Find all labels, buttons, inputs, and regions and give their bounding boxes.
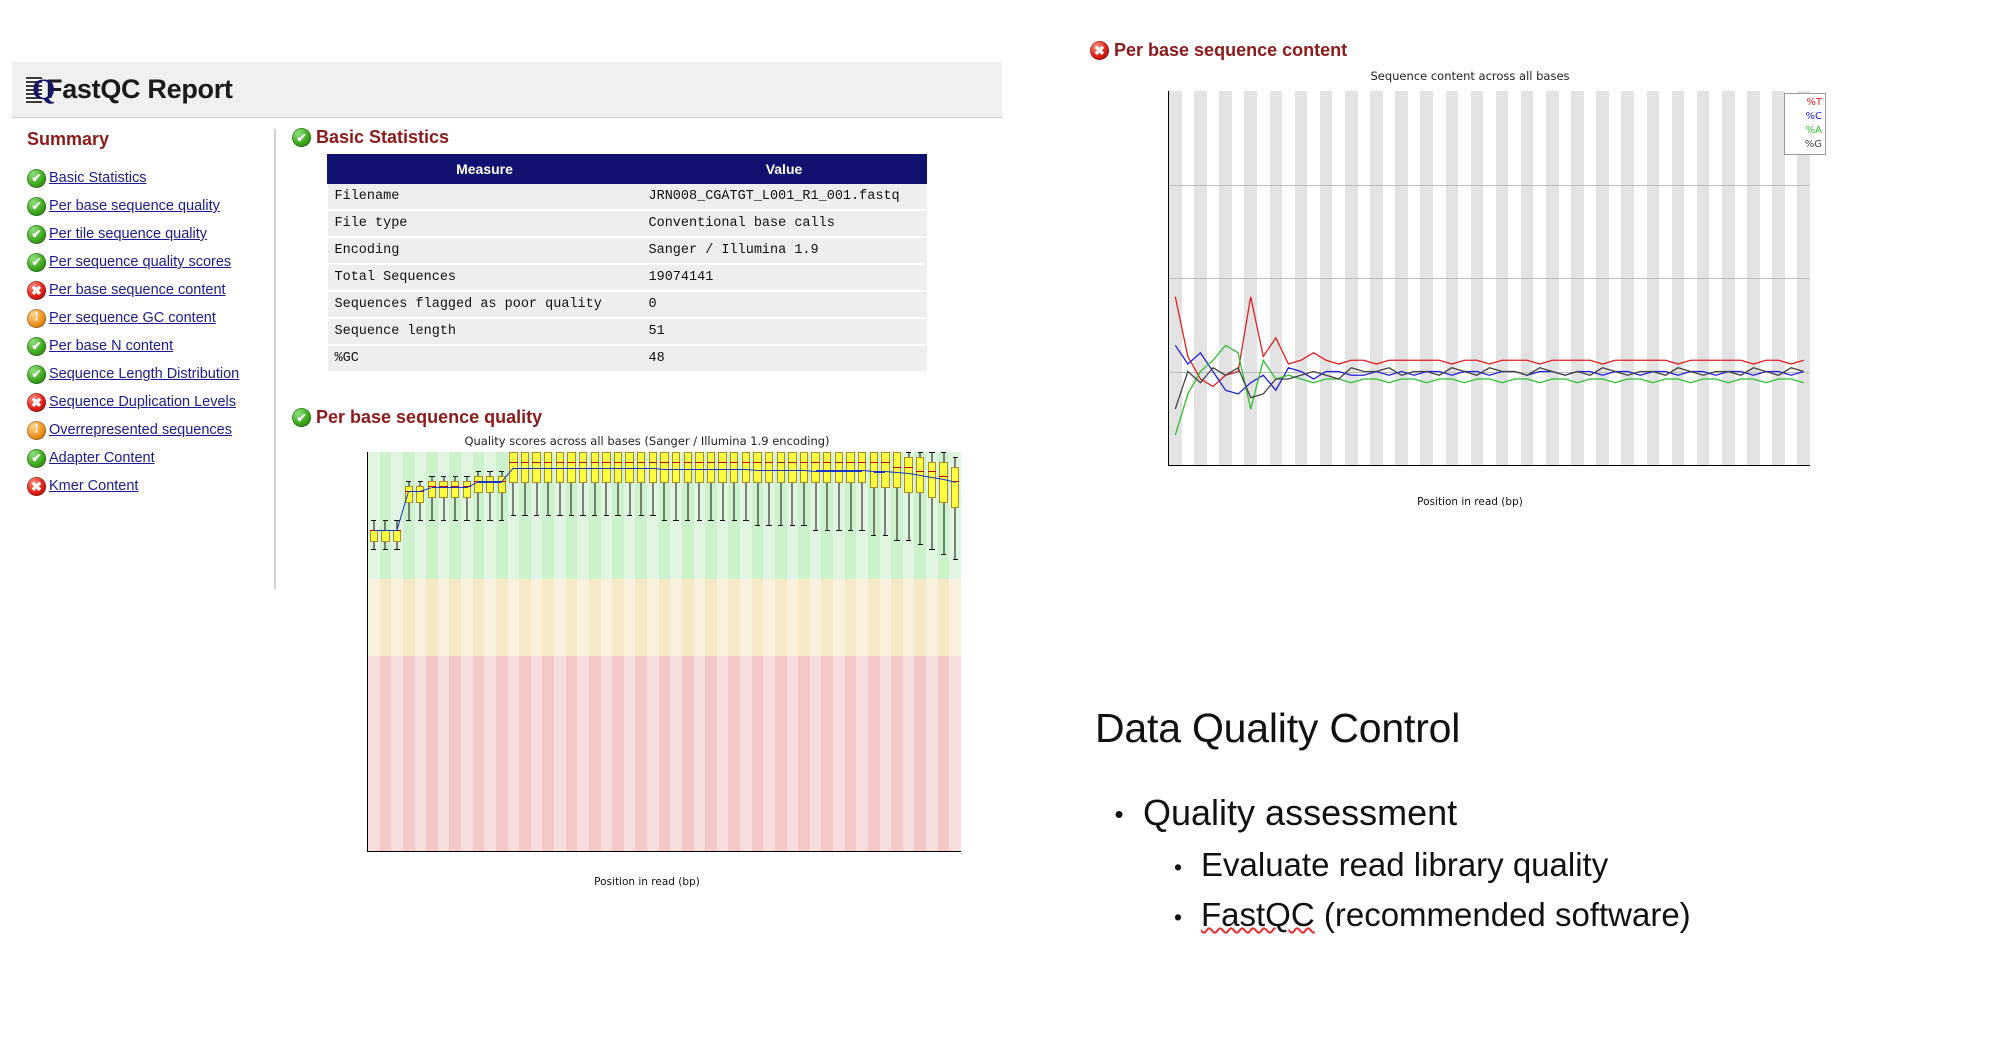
stat-measure: %GC [328,345,642,372]
x-axis-label: Position in read (bp) [1120,496,1820,508]
boxplot-box [800,452,808,851]
stat-value: 51 [642,318,927,345]
summary-item-per-base-sequence-quality[interactable]: ✔Per base sequence quality [27,192,274,220]
boxplot-box [405,452,413,851]
summary-item-label[interactable]: Per base sequence content [49,282,226,298]
per-base-sequence-content-section: ✖ Per base sequence content Sequence con… [1090,40,1850,514]
boxplot-box [707,452,715,851]
pass-icon: ✔ [27,253,46,272]
basic-statistics-table: Measure Value FilenameJRN008_CGATGT_L001… [327,154,927,373]
boxplot-box [486,452,494,851]
mean-quality-line [711,469,723,470]
series-pct-A [1175,345,1803,435]
stat-measure: File type [328,210,642,237]
mean-quality-line [537,468,549,469]
mean-quality-line [571,468,583,469]
stat-value: 48 [642,345,927,372]
boxplot-box [870,452,878,851]
stat-measure: Filename [328,184,642,211]
summary-item-label[interactable]: Sequence Duplication Levels [49,394,236,410]
mean-quality-line [676,469,688,470]
summary-item-per-base-sequence-content[interactable]: ✖Per base sequence content [27,276,274,304]
boxplot-box [498,452,506,851]
boxplot-box [684,452,692,851]
table-row: EncodingSanger / Illumina 1.9 [328,237,927,264]
boxplot-box [718,452,726,851]
summary-item-label[interactable]: Kmer Content [49,478,138,494]
boxplot-box [532,452,540,851]
boxplot-box [881,452,889,851]
mean-quality-line [548,468,560,469]
boxplot-box [451,452,459,851]
summary-item-label[interactable]: Per tile sequence quality [49,226,207,242]
chart-title: Quality scores across all bases (Sanger … [327,434,967,448]
bullet-text: FastQC (recommended software) [1201,896,1691,934]
mean-quality-line [874,471,886,472]
boxplot-box [672,452,680,851]
mean-quality-line [734,469,746,470]
boxplot-box [788,452,796,851]
mean-quality-line [478,481,490,482]
summary-item-per-tile-sequence-quality[interactable]: ✔Per tile sequence quality [27,220,274,248]
mean-quality-line [409,491,421,492]
pass-icon: ✔ [27,197,46,216]
pass-icon: ✔ [27,169,46,188]
page-title: FastQC Report [46,74,233,105]
fastqc-report-panel: Q FastQC Report Summary ✔Basic Statistic… [12,62,1002,997]
mean-quality-line [665,469,677,470]
boxplot-box [904,452,912,851]
bullet-text: Quality assessment [1143,792,1457,834]
mean-quality-line [792,470,804,471]
mean-quality-line [781,470,793,471]
bullet-text: Evaluate read library quality [1201,846,1608,884]
mean-quality-line [699,469,711,470]
mean-quality-line [606,468,618,469]
boxplot-box [393,452,401,851]
mean-quality-line [851,470,863,471]
column-header-measure: Measure [328,155,642,184]
stat-value: 0 [642,291,927,318]
mean-quality-line [630,468,642,469]
boxplot-box [649,452,657,851]
chart-plot-area: 0102030405060708090100123456789111315171… [1168,91,1810,466]
per-base-sequence-content-chart: Sequence content across all bases 010203… [1120,69,1820,514]
slide-title: Data Quality Control [1095,705,1975,752]
boxplot-box [858,452,866,851]
boxplot-box [765,452,773,851]
boxplot-box [521,452,529,851]
fail-icon: ✖ [27,477,46,496]
boxplot-box [428,452,436,851]
fail-icon: ✖ [27,393,46,412]
legend-item-pct-G: %G [1788,138,1822,152]
stat-measure: Encoding [328,237,642,264]
mean-quality-line [432,487,444,488]
bullet-level2: • Evaluate read library quality [1155,846,1975,888]
stat-value: 19074141 [642,264,927,291]
misspelled-word: FastQC [1201,896,1315,933]
boxplot-box [695,452,703,851]
stat-value: JRN008_CGATGT_L001_R1_001.fastq [642,184,927,211]
mean-quality-line [583,468,595,469]
boxplot-box [660,452,668,851]
pass-icon: ✔ [292,408,311,427]
summary-item-sequence-duplication-levels[interactable]: ✖Sequence Duplication Levels [27,388,274,416]
table-row: Total Sequences19074141 [328,264,927,291]
chart-legend: %T%C%A%G [1784,93,1826,155]
fail-icon: ✖ [27,281,46,300]
summary-item-label[interactable]: Per sequence GC content [49,310,216,326]
basic-statistics-heading: ✔ Basic Statistics [292,127,992,148]
mean-quality-line [513,468,525,469]
warn-icon: ! [27,309,46,328]
boxplot-box [614,452,622,851]
mean-quality-line [746,469,758,471]
boxplot-box [939,452,947,851]
mean-quality-line [525,468,537,469]
summary-item-label[interactable]: Per base N content [49,338,173,354]
chart-plot-area: 0246810121416182022242628303234363840123… [367,452,961,852]
stat-measure: Sequence length [328,318,642,345]
boxplot-box [916,452,924,851]
summary-item-label[interactable]: Per base sequence quality [49,198,220,214]
boxplot-box [544,452,552,851]
mean-quality-line [839,470,851,471]
column-header-value: Value [642,155,927,184]
boxplot-box [439,452,447,851]
stat-value: Sanger / Illumina 1.9 [642,237,927,264]
pass-icon: ✔ [27,449,46,468]
mean-quality-line [490,481,502,482]
bullet-marker-icon: • [1095,792,1143,836]
summary-item-overrepresented-sequences[interactable]: !Overrepresented sequences [27,416,274,444]
summary-item-sequence-length-distribution[interactable]: ✔Sequence Length Distribution [27,360,274,388]
boxplot-box [893,452,901,851]
boxplot-box [567,452,575,851]
boxplot-box [951,452,959,851]
sequence-content-lines [1169,91,1810,465]
mean-quality-line [641,468,653,469]
mean-quality-line [653,468,665,470]
mean-quality-line [560,468,572,469]
bullet-marker-icon: • [1155,896,1201,938]
mean-quality-line [455,487,467,488]
mean-quality-line [769,470,781,471]
summary-item-label[interactable]: Sequence Length Distribution [49,366,239,382]
boxplot-box [730,452,738,851]
boxplot-box [742,452,750,851]
table-row: Sequences flagged as poor quality0 [328,291,927,318]
boxplot-box [370,452,378,851]
pass-icon: ✔ [27,225,46,244]
mean-quality-line [374,530,386,531]
fail-icon: ✖ [1090,41,1109,60]
legend-item-pct-C: %C [1788,110,1822,124]
mean-quality-line [827,470,839,471]
chart-title: Sequence content across all bases [1120,69,1820,83]
summary-item-label[interactable]: Overrepresented sequences [49,422,232,438]
boxplot-box [637,452,645,851]
series-pct-G [1175,368,1803,409]
summary-item-kmer-content[interactable]: ✖Kmer Content [27,472,274,500]
boxplot-box [416,452,424,851]
summary-heading: Summary [27,129,274,150]
summary-item-basic-statistics[interactable]: ✔Basic Statistics [27,164,274,192]
table-row: %GC48 [328,345,927,372]
bullet-level2: • FastQC (recommended software) [1155,896,1975,938]
table-row: File typeConventional base calls [328,210,927,237]
bullet-marker-icon: • [1155,846,1201,888]
report-main-column: ✔ Basic Statistics Measure Value Filenam… [292,127,992,894]
mean-quality-line [816,470,828,471]
summary-item-per-sequence-quality-scores[interactable]: ✔Per sequence quality scores [27,248,274,276]
boxplot-box [811,452,819,851]
summary-item-per-sequence-gc-content[interactable]: !Per sequence GC content [27,304,274,332]
summary-item-per-base-n-content[interactable]: ✔Per base N content [27,332,274,360]
boxplot-box [381,452,389,851]
boxplot-box [753,452,761,851]
per-base-sequence-content-heading: ✖ Per base sequence content [1090,40,1850,61]
legend-item-pct-T: %T [1788,96,1822,110]
mean-quality-line [758,470,770,471]
bullet-level1: • Quality assessment [1095,792,1975,836]
boxplot-box [579,452,587,851]
summary-item-label[interactable]: Adapter Content [49,450,155,466]
pass-icon: ✔ [27,365,46,384]
stat-measure: Sequences flagged as poor quality [328,291,642,318]
pass-icon: ✔ [292,128,311,147]
summary-list: ✔Basic Statistics✔Per base sequence qual… [22,164,274,500]
x-axis-label: Position in read (bp) [327,876,967,888]
boxplot-box [556,452,564,851]
mean-quality-line [595,468,607,469]
legend-item-pct-A: %A [1788,124,1822,138]
table-row: FilenameJRN008_CGATGT_L001_R1_001.fastq [328,184,927,211]
mean-quality-line [723,469,735,470]
boxplot-box [846,452,854,851]
boxplot-box [835,452,843,851]
pass-icon: ✔ [27,337,46,356]
boxplot-box [602,452,610,851]
boxplot-box [625,452,633,851]
table-header-row: Measure Value [328,155,927,184]
mean-quality-line [688,469,700,470]
boxplot-box [474,452,482,851]
summary-item-label[interactable]: Per sequence quality scores [49,254,231,270]
boxplot-box [509,452,517,851]
table-row: Sequence length51 [328,318,927,345]
stat-value: Conventional base calls [642,210,927,237]
slide-bullet-list: • Quality assessment • Evaluate read lib… [1095,792,1975,938]
per-base-sequence-quality-heading: ✔ Per base sequence quality [292,407,992,428]
fastqc-logo-icon: Q [26,75,52,105]
mean-quality-line [444,487,456,488]
summary-item-label[interactable]: Basic Statistics [49,170,147,186]
boxplot-box [463,452,471,851]
warn-icon: ! [27,421,46,440]
boxplot-box [928,452,936,851]
summary-sidebar: Summary ✔Basic Statistics✔Per base seque… [22,129,276,589]
bullet-text-rest: (recommended software) [1315,896,1691,933]
boxplot-box [777,452,785,851]
per-base-sequence-quality-chart: Quality scores across all bases (Sanger … [327,434,967,894]
slide-text-block: Data Quality Control • Quality assessmen… [1095,705,1975,946]
stat-measure: Total Sequences [328,264,642,291]
mean-quality-line [618,468,630,469]
boxplot-box [591,452,599,851]
report-header: Q FastQC Report [12,62,1002,118]
summary-item-adapter-content[interactable]: ✔Adapter Content [27,444,274,472]
mean-quality-line [804,470,816,472]
boxplot-box [823,452,831,851]
